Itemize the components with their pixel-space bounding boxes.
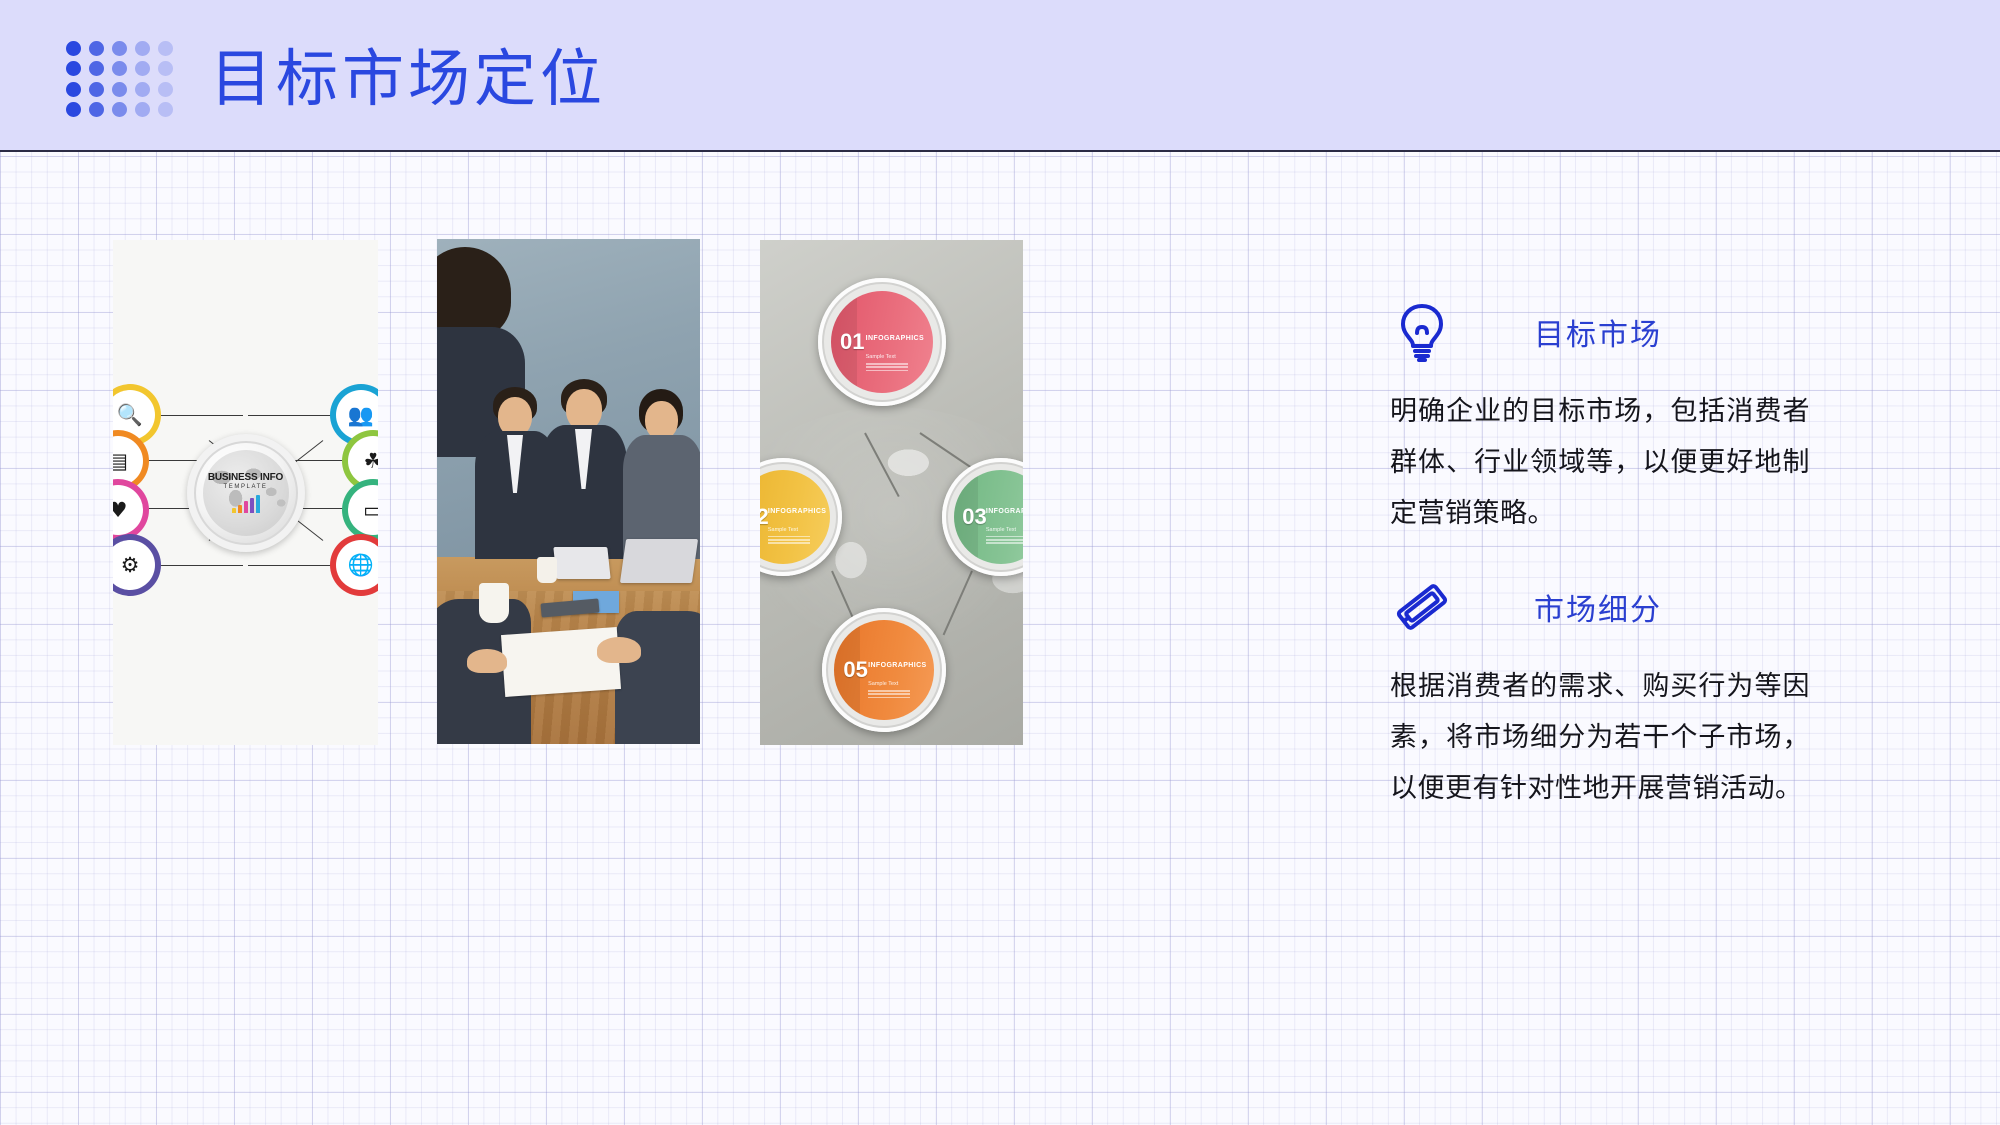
slide-canvas: 目标市场定位 BUSINESS INFO TEMPLATE — [0, 0, 2000, 1125]
heart-icon: ♥ — [113, 500, 127, 521]
connector-line — [148, 415, 243, 416]
infographic-hub: BUSINESS INFO TEMPLATE — [187, 434, 305, 552]
node-number: 05 — [843, 657, 867, 683]
node-label: INFOGRAPHICS — [986, 508, 1023, 515]
monitor-icon: ▭ — [363, 500, 378, 521]
hub-sublabel: TEMPLATE — [223, 483, 267, 492]
connector-line — [248, 565, 343, 566]
node-monitor-icon: ▭ — [348, 485, 378, 535]
node-gears-icon: ⚙ — [113, 540, 155, 590]
infographic-node-03: 03 INFOGRAPHICS Sample Text — [942, 458, 1023, 576]
globe-icon: 🌐 — [348, 555, 374, 576]
node-heart-icon: ♥ — [113, 485, 143, 535]
node-people-icon: 👥 — [336, 390, 378, 440]
node-globe-icon: 🌐 — [336, 540, 378, 590]
page-title: 目标市场定位 — [210, 42, 606, 118]
tablet-object — [553, 547, 610, 579]
block-body-text: 根据消费者的需求、购买行为等因素，将市场细分为若干个子市场，以便更有针对性地开展… — [1390, 661, 1810, 814]
node-text-lines — [868, 690, 926, 698]
node-sample-text: Sample Text — [986, 527, 1016, 533]
lightbulb-icon — [1390, 300, 1454, 364]
node-chart-icon: ▤ — [113, 436, 143, 486]
node-leaf-icon: ☘ — [348, 436, 378, 486]
node-sample-text: Sample Text — [868, 681, 898, 687]
node-number: 03 — [962, 504, 986, 530]
block-body-text: 明确企业的目标市场，包括消费者群体、行业领域等，以便更好地制定营销策略。 — [1390, 386, 1810, 539]
node-sample-text: Sample Text — [866, 354, 896, 360]
gears-icon: ⚙ — [121, 555, 140, 576]
block-title: 目标市场 — [1534, 310, 1662, 354]
person-silhouette — [615, 611, 700, 744]
node-sample-text: Sample Text — [768, 527, 798, 533]
search-icon: 🔍 — [117, 405, 143, 426]
image-panel-numbered-infographic: 01 INFOGRAPHICS Sample Text 02 INFOGRAPH… — [760, 240, 1023, 745]
node-text-lines — [986, 536, 1023, 544]
paperclip-icon — [1390, 575, 1454, 639]
node-label: INFOGRAPHICS — [868, 662, 926, 669]
slide-header: 目标市场定位 — [0, 0, 2000, 152]
node-number: 01 — [840, 329, 864, 355]
infographic-node-05: 05 INFOGRAPHICS Sample Text — [822, 608, 946, 732]
image-panel-meeting-photo — [437, 239, 700, 744]
node-label: INFOGRAPHICS — [866, 335, 924, 342]
mug-object — [479, 583, 509, 623]
bar-chart-icon — [232, 495, 260, 513]
block-title: 市场细分 — [1534, 585, 1662, 629]
hub-label: BUSINESS INFO — [208, 473, 283, 483]
paper-document — [501, 627, 621, 697]
people-icon: 👥 — [348, 405, 374, 426]
dot-grid-decoration — [62, 38, 177, 120]
hand-silhouette — [597, 637, 641, 663]
infographic-node-01: 01 INFOGRAPHICS Sample Text — [818, 278, 946, 406]
node-search-icon: 🔍 — [113, 390, 155, 440]
leaf-icon: ☘ — [364, 451, 378, 472]
hand-silhouette — [467, 649, 507, 673]
coffee-cup-object — [537, 557, 557, 583]
node-text-lines — [768, 536, 826, 544]
connector-line — [248, 415, 343, 416]
node-label: INFOGRAPHICS — [768, 508, 826, 515]
node-text-lines — [866, 363, 924, 371]
image-panel-business-info: BUSINESS INFO TEMPLATE 🔍 ▤ ♥ ⚙ 👥 ☘ ▭ 🌐 — [113, 240, 378, 745]
content-block-target-market: 目标市场 明确企业的目标市场，包括消费者群体、行业领域等，以便更好地制定营销策略… — [1390, 300, 1810, 539]
content-block-market-segmentation: 市场细分 根据消费者的需求、购买行为等因素，将市场细分为若干个子市场，以便更有针… — [1390, 575, 1810, 814]
connector-line — [148, 565, 243, 566]
laptop-object — [620, 539, 698, 583]
chart-icon: ▤ — [113, 451, 128, 472]
